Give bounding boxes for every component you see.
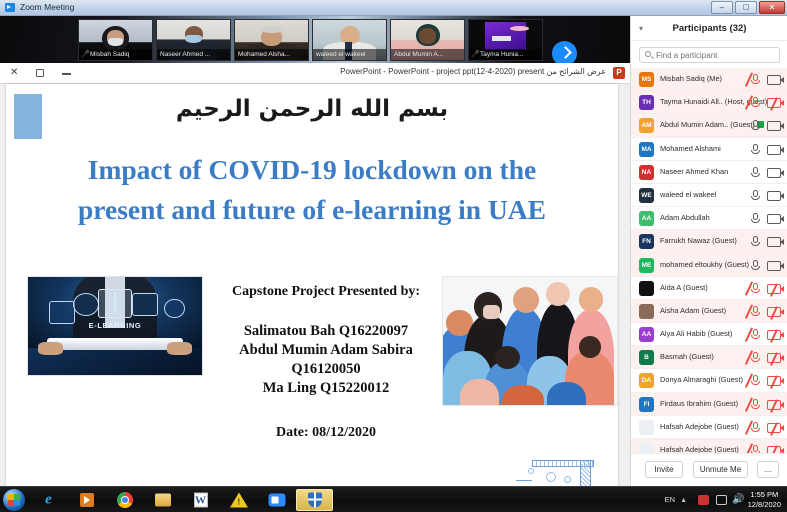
ppt-close-button[interactable]: ✕ (10, 68, 18, 78)
slide-bismillah-text: بسم الله الرحمن الرحيم (6, 96, 618, 122)
participants-header: ▾ Participants (32) (631, 16, 787, 41)
participant-row[interactable]: AMAbdul Mumin Adam.. (Guest) (631, 114, 787, 137)
ppt-restore-button[interactable] (36, 69, 44, 77)
shield-icon (308, 493, 322, 508)
participant-status-icons (750, 212, 782, 225)
participant-name: Adam Abdullah (660, 213, 710, 222)
avatar (639, 420, 654, 435)
avatar: TH (639, 95, 654, 110)
taskbar-item-media-player[interactable] (68, 489, 105, 511)
participant-row[interactable]: FNFarrukh Nawaz (Guest) (631, 230, 787, 253)
video-tile-3[interactable]: waleed el wakeel (312, 19, 387, 61)
tablet-shape (47, 338, 183, 350)
mic-on-icon[interactable] (750, 212, 761, 225)
camera-off-icon[interactable] (767, 307, 781, 317)
search-icon (164, 299, 185, 319)
clock[interactable]: 1:55 PM 12/8/2020 (748, 490, 781, 510)
hand-left (38, 342, 62, 356)
more-options-button[interactable]: ... (757, 461, 779, 478)
tile-name-label: Mohamed Alsha... (235, 49, 308, 60)
avatar: AA (639, 327, 654, 342)
camera-off-icon[interactable] (767, 423, 781, 433)
book-icon (98, 289, 133, 318)
taskbar-item-microsoft-word[interactable]: W (182, 489, 219, 511)
camera-on-icon[interactable] (767, 168, 781, 178)
next-page-arrow-icon[interactable] (552, 41, 577, 63)
camera-on-icon[interactable] (767, 75, 781, 85)
mic-on-icon[interactable] (750, 119, 761, 132)
mic-muted-icon[interactable] (750, 444, 761, 453)
participant-name: Hafsah Adejobe (Guest) (660, 445, 739, 453)
deco-circle (528, 468, 534, 474)
mic-muted-icon[interactable] (750, 282, 761, 295)
search-participant-field[interactable] (639, 47, 780, 63)
mic-on-icon[interactable] (750, 166, 761, 179)
video-tile-1[interactable]: Naseer Ahmed ... (156, 19, 231, 61)
camera-off-icon[interactable] (767, 446, 781, 453)
participants-list[interactable]: MSMisbah Sadiq (Me)THTayma Hunaidi All..… (631, 68, 787, 453)
zoom-window-title: Zoom Meeting (20, 2, 74, 12)
mic-muted-icon[interactable] (750, 351, 761, 364)
slide-area: بسم الله الرحمن الرحيم Impact of COVID-1… (0, 84, 630, 512)
participant-status-icons (750, 282, 782, 295)
camera-on-icon[interactable] (767, 214, 781, 224)
network-tray-icon[interactable] (716, 495, 727, 505)
student-0: Salimatou Bah Q16220097 (206, 322, 446, 341)
hand-right (167, 342, 191, 356)
minimize-icon: – (720, 4, 724, 12)
participant-status-icons (750, 351, 782, 364)
internet-explorer-icon: e (45, 492, 52, 509)
mic-muted-icon[interactable] (750, 374, 761, 387)
capstone-text-block: Capstone Project Presented by: Salimatou… (206, 284, 446, 441)
participant-row[interactable]: FIFirdaus Ibrahim (Guest) (631, 393, 787, 416)
google-chrome-icon (117, 492, 133, 508)
video-tile-2[interactable]: Mohamed Alsha... (234, 19, 309, 61)
zoom-meeting-window: Zoom Meeting – ☐ ✕ 🎤 Misbah Sadiq (0, 0, 787, 486)
video-tile-5[interactable]: 🎤 Tayma Hunia... (468, 19, 543, 61)
camera-off-icon[interactable] (767, 376, 781, 386)
slide-title-line1: Impact of COVID-19 lockdown on the (46, 150, 578, 190)
window-controls: – ☐ ✕ (711, 1, 785, 14)
invite-button[interactable]: Invite (645, 461, 683, 478)
participant-row[interactable]: Hafsah Adejobe (Guest) (631, 416, 787, 439)
ppt-minimize-button[interactable] (62, 73, 71, 75)
mic-muted-icon[interactable] (750, 421, 761, 434)
clock-time: 1:55 PM (748, 490, 781, 500)
taskbar-item-warning-app[interactable]: ! (220, 489, 257, 511)
participant-status-icons (750, 119, 782, 132)
taskbar-item-google-chrome[interactable] (106, 489, 143, 511)
mic-on-icon[interactable] (750, 235, 761, 248)
start-button[interactable] (3, 489, 25, 511)
participant-row[interactable]: NANaseer Ahmed Khan (631, 161, 787, 184)
video-tile-0[interactable]: 🎤 Misbah Sadiq (78, 19, 153, 61)
participant-row[interactable]: BBasmah (Guest) (631, 346, 787, 369)
camera-on-icon[interactable] (767, 237, 781, 247)
camera-off-icon[interactable] (767, 353, 781, 363)
participant-row[interactable]: AAAlya Ali Habib (Guest) (631, 323, 787, 346)
zoom-titlebar: Zoom Meeting – ☐ ✕ (0, 0, 787, 16)
participant-status-icons (750, 444, 782, 453)
camera-off-icon[interactable] (767, 400, 781, 410)
student-2: Ma Ling Q15220012 (206, 379, 446, 398)
tile-name-label: Abdul Mumin A... (391, 49, 464, 60)
camera-on-icon[interactable] (767, 145, 781, 155)
language-indicator[interactable]: EN (665, 495, 675, 504)
participant-name: Firdaus Ibrahim (Guest) (660, 399, 738, 408)
slide-canvas[interactable]: بسم الله الرحمن الرحيم Impact of COVID-1… (6, 84, 618, 512)
participant-status-icons (750, 189, 782, 202)
participants-panel: ▾ Participants (32) MSMisbah Sadiq (Me)T… (630, 16, 787, 486)
participant-status-icons (750, 96, 782, 109)
participant-name: Alya Ali Habib (Guest) (660, 329, 732, 338)
mic-muted-icon[interactable] (750, 73, 761, 86)
participant-row[interactable]: AAAdam Abdullah (631, 207, 787, 230)
presented-by-label: Capstone Project Presented by: (206, 284, 446, 300)
avatar: AM (639, 118, 654, 133)
restore-icon: ☐ (743, 4, 749, 11)
participant-row[interactable]: MAMohamed Alshami (631, 138, 787, 161)
participant-name: waleed el wakeel (660, 190, 716, 199)
mic-muted-icon[interactable] (750, 398, 761, 411)
participant-status-icons (750, 374, 782, 387)
camera-off-icon[interactable] (767, 98, 781, 108)
windows-taskbar: e W ! (0, 486, 787, 512)
avatar: B (639, 350, 654, 365)
participant-row[interactable]: THTayma Hunaidi All.. (Host, guest) (631, 91, 787, 114)
folder-icon (155, 494, 171, 507)
warning-icon: ! (230, 493, 248, 508)
participant-name: Basmah (Guest) (660, 352, 714, 361)
avatar: AA (639, 211, 654, 226)
participant-row[interactable]: Aisha Adam (Guest) (631, 300, 787, 323)
participant-name: Mohamed Alshami (660, 144, 721, 153)
student-1: Abdul Mumin Adam Sabira Q16120050 (206, 341, 446, 379)
avatar: MA (639, 142, 654, 157)
camera-on-icon[interactable] (767, 191, 781, 201)
mic-on-icon[interactable] (750, 189, 761, 202)
participant-name: Hafsah Adejobe (Guest) (660, 422, 739, 431)
participant-row[interactable]: MEmohamed eltoukhy (Guest) (631, 254, 787, 277)
tile-name-label: Naseer Ahmed ... (157, 49, 230, 60)
participant-name: Misbah Sadiq (Me) (660, 74, 722, 83)
participant-name: mohamed eltoukhy (Guest) (660, 260, 749, 269)
avatar: DA (639, 373, 654, 388)
camera-on-icon[interactable] (767, 121, 781, 131)
taskbar-item-internet-explorer[interactable]: e (30, 489, 67, 511)
avatar: MS (639, 72, 654, 87)
tile-name-label: Tayma Hunia... (469, 49, 542, 60)
mic-muted-icon[interactable] (750, 96, 761, 109)
avatar: NA (639, 165, 654, 180)
deco-circle (564, 476, 571, 483)
participant-name: Farrukh Nawaz (Guest) (660, 236, 737, 245)
participant-name: Naseer Ahmed Khan (660, 167, 728, 176)
participant-row[interactable]: Hafsah Adejobe (Guest) (631, 439, 787, 453)
participant-name: Abdul Mumin Adam.. (Guest) (660, 120, 764, 129)
avatar: ME (639, 258, 654, 273)
participant-status-icons (750, 305, 782, 318)
avatar: WE (639, 188, 654, 203)
avatar (639, 281, 654, 296)
video-tile-4[interactable]: Abdul Mumin A... (390, 19, 465, 61)
close-button[interactable]: ✕ (759, 1, 785, 14)
search-icon (645, 51, 651, 57)
participant-row[interactable]: MSMisbah Sadiq (Me) (631, 68, 787, 91)
participant-status-icons (750, 73, 782, 86)
search-input[interactable] (656, 49, 776, 62)
taskbar-item-security-shield[interactable] (296, 489, 333, 511)
slide-title: Impact of COVID-19 lockdown on the prese… (46, 150, 578, 230)
tile-name-label: Misbah Sadiq (79, 49, 152, 60)
crowd-image (442, 276, 618, 406)
avatar (639, 304, 654, 319)
participant-status-icons (750, 328, 782, 341)
participant-status-icons (750, 235, 782, 248)
camera-off-icon[interactable] (767, 284, 781, 294)
powerpoint-window: ✕ PowerPoint - PowerPoint - project ppt(… (0, 63, 630, 486)
participants-footer: Invite Unmute Me ... (631, 453, 787, 486)
volume-tray-icon[interactable]: 🔊 (732, 495, 743, 505)
participant-status-icons (750, 259, 782, 272)
presentation-date: Date: 08/12/2020 (206, 425, 446, 441)
minimize-button[interactable]: – (711, 1, 733, 14)
taskbar-item-zoom[interactable] (258, 489, 295, 511)
student-list: Salimatou Bah Q16220097 Abdul Mumin Adam… (206, 322, 446, 398)
participant-status-icons (750, 421, 782, 434)
elearning-label: E-LEARNING (28, 321, 202, 330)
slide-title-line2: present and future of e-learning in UAE (46, 190, 578, 230)
unmute-me-button[interactable]: Unmute Me (693, 461, 748, 478)
participant-row[interactable]: DADonya Almaraghi (Guest) (631, 369, 787, 392)
screen: Zoom Meeting – ☐ ✕ 🎤 Misbah Sadiq (0, 0, 787, 512)
participant-row[interactable]: WEwaleed el wakeel (631, 184, 787, 207)
mic-muted-icon[interactable] (750, 305, 761, 318)
deco-circle (546, 472, 556, 482)
video-thumbnail-strip: 🎤 Misbah Sadiq Naseer Ahmed ... (0, 16, 630, 63)
participant-name: Donya Almaraghi (Guest) (660, 375, 743, 384)
taskbar-item-file-explorer[interactable] (144, 489, 181, 511)
tile-name-label: waleed el wakeel (313, 49, 386, 60)
zoom-app-icon (5, 3, 15, 12)
powerpoint-document-title: PowerPoint - PowerPoint - project ppt(12… (340, 67, 606, 76)
powerpoint-titlebar: ✕ PowerPoint - PowerPoint - project ppt(… (0, 63, 630, 84)
participant-row[interactable]: Aida A (Guest) (631, 277, 787, 300)
deco-line (516, 480, 532, 481)
mic-muted-icon[interactable] (750, 328, 761, 341)
restore-button[interactable]: ☐ (735, 1, 757, 14)
antivirus-tray-icon[interactable] (698, 495, 709, 505)
zoom-icon (268, 494, 285, 507)
show-hidden-icons-button[interactable]: ▲ (680, 497, 687, 504)
avatar (639, 443, 654, 453)
participants-title: Participants (32) (631, 23, 787, 34)
network-icon (132, 293, 158, 317)
avatar: FI (639, 397, 654, 412)
clock-date: 12/8/2020 (748, 500, 781, 510)
participant-name: Aisha Adam (Guest) (660, 306, 726, 315)
camera-on-icon[interactable] (767, 261, 781, 271)
participant-status-icons (750, 143, 782, 156)
mic-on-icon[interactable] (750, 143, 761, 156)
word-icon: W (194, 493, 208, 508)
camera-off-icon[interactable] (767, 330, 781, 340)
participant-status-icons (750, 398, 782, 411)
elearning-image: E-LEARNING (27, 276, 203, 376)
participant-status-icons (750, 166, 782, 179)
participant-name: Aida A (Guest) (660, 283, 708, 292)
media-player-icon (80, 493, 94, 507)
mic-on-icon[interactable] (750, 259, 761, 272)
close-icon: ✕ (769, 4, 776, 12)
powerpoint-app-icon: P (613, 67, 625, 79)
avatar: FN (639, 234, 654, 249)
